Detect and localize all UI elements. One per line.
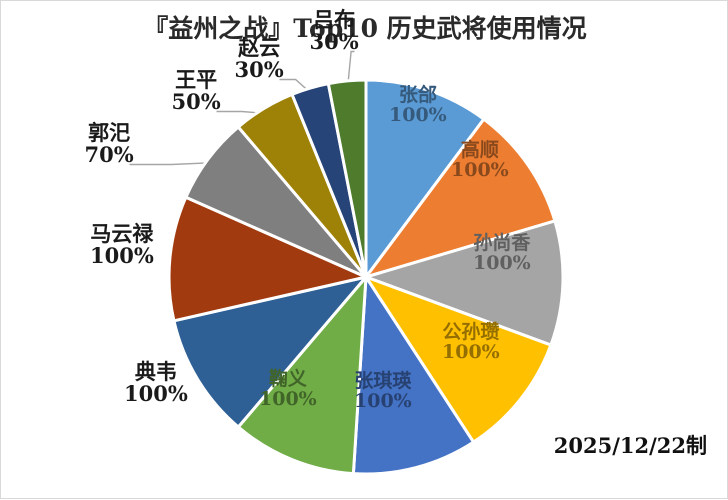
label-leader-line: [130, 163, 213, 165]
date-stamp: 2025/12/22制: [554, 430, 707, 460]
pie-slices-group: [169, 80, 563, 474]
pie-svg: [1, 1, 728, 500]
pie-chart-figure: 『益州之战』Top10 历史武将使用情况 张郃100%高顺100%孙尚香100%…: [0, 0, 728, 499]
